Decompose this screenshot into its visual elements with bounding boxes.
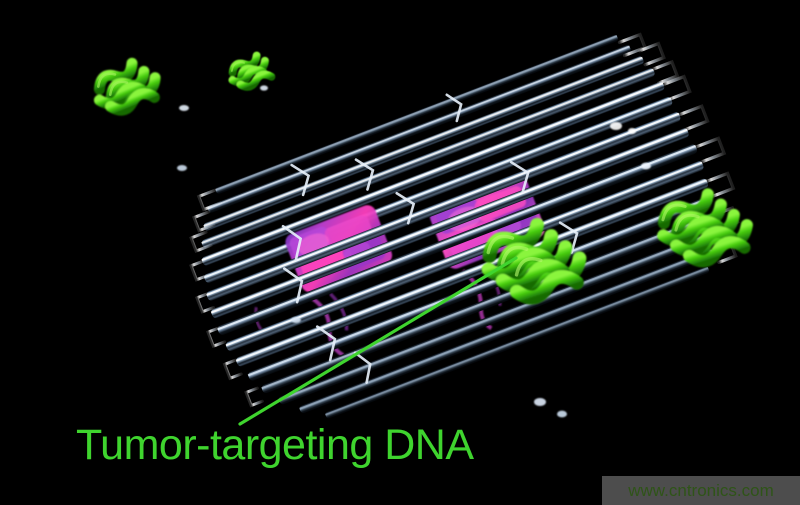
watermark-text: www.cntronics.com [628, 481, 773, 501]
image-canvas: Tumor-targeting DNA www.cntronics.com [0, 0, 800, 505]
watermark-bar: www.cntronics.com [602, 476, 800, 505]
callout-label: Tumor-targeting DNA [76, 422, 474, 468]
